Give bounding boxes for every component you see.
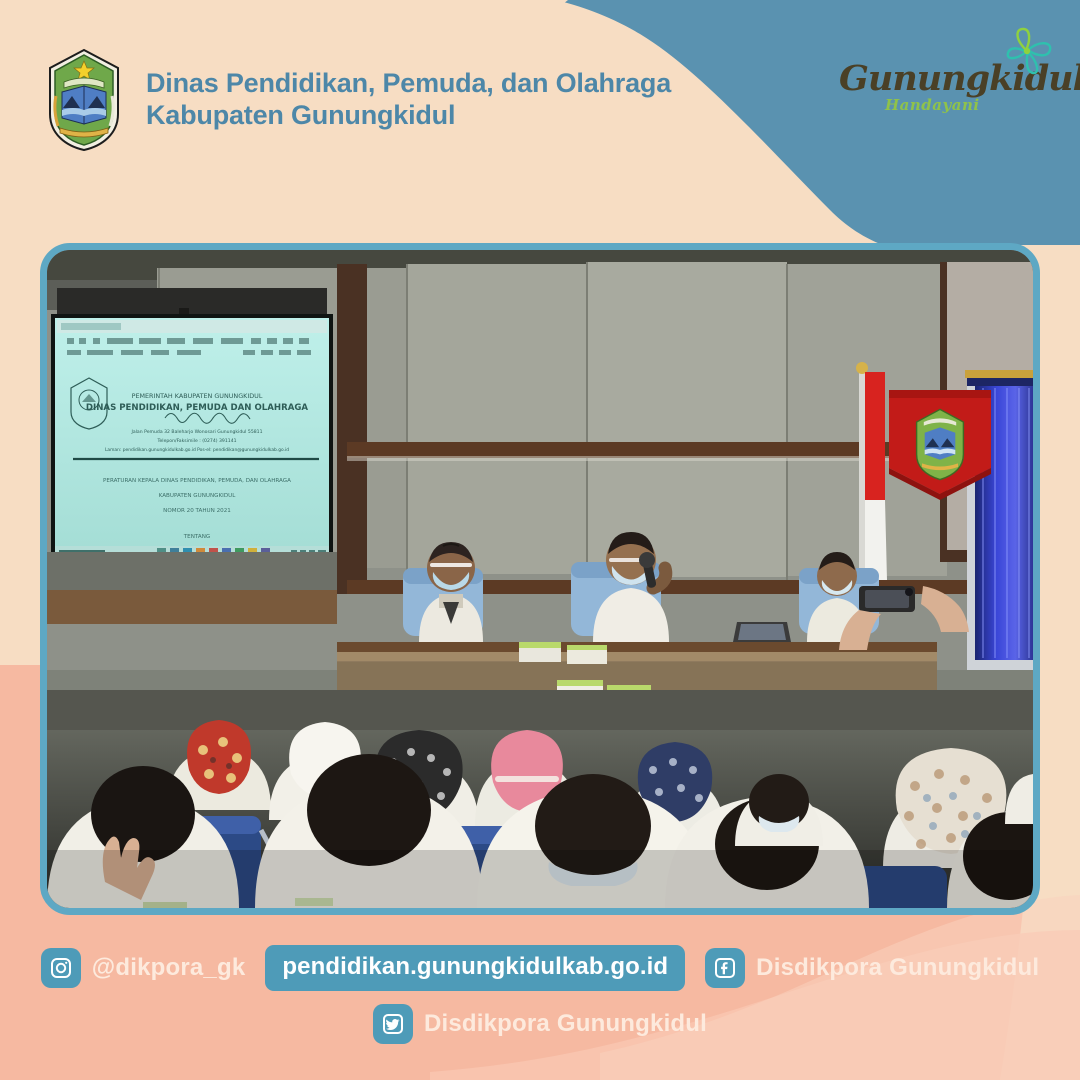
dragonfly-ornament-icon (996, 20, 1060, 82)
twitter-link[interactable]: Disdikpora Gunungkidul (373, 1004, 707, 1044)
svg-text:PEMERINTAH KABUPATEN GUNUNGKID: PEMERINTAH KABUPATEN GUNUNGKIDUL (132, 392, 263, 400)
brand-tagline: Handayani (885, 96, 980, 114)
gunungkidul-brand-logo: Gunungkidul Handayani (839, 24, 1054, 134)
svg-text:Telepon/Faksimile : (0274) 391: Telepon/Faksimile : (0274) 391141 (156, 438, 236, 444)
facebook-icon[interactable] (705, 948, 745, 988)
facebook-link[interactable]: Disdikpora Gunungkidul (705, 948, 1039, 988)
svg-text:DINAS PENDIDIKAN, PEMUDA DAN O: DINAS PENDIDIKAN, PEMUDA DAN OLAHRAGA (86, 403, 309, 413)
facebook-page-name: Disdikpora Gunungkidul (756, 954, 1039, 982)
event-photo: PEMERINTAH KABUPATEN GUNUNGKIDUL DINAS P… (40, 243, 1040, 915)
instagram-handle: @dikpora_gk (92, 954, 246, 982)
instagram-link[interactable]: @dikpora_gk (41, 948, 246, 988)
svg-text:Laman: pendidikan.gunungkidulk: Laman: pendidikan.gunungkidulkab.go.id P… (105, 447, 289, 453)
instagram-icon[interactable] (41, 948, 81, 988)
gunungkidul-regency-emblem-icon (42, 48, 126, 152)
website-url-pill[interactable]: pendidikan.gunungkidulkab.go.id (265, 945, 685, 991)
twitter-icon[interactable] (373, 1004, 413, 1044)
twitter-handle: Disdikpora Gunungkidul (424, 1010, 707, 1038)
svg-text:TENTANG: TENTANG (183, 534, 210, 540)
svg-text:PERATURAN KEPALA DINAS PENDIDI: PERATURAN KEPALA DINAS PENDIDIKAN, PEMUD… (103, 478, 291, 484)
svg-text:Jalan Pemuda 32 Baleharjo Wono: Jalan Pemuda 32 Baleharjo Wonosari Gunun… (130, 429, 262, 435)
footer-social-links: @dikpora_gk pendidikan.gunungkidulkab.go… (0, 945, 1080, 1044)
page-title-line2: Kabupaten Gunungkidul (146, 100, 671, 132)
svg-text:KABUPATEN GUNUNGKIDUL: KABUPATEN GUNUNGKIDUL (159, 493, 237, 499)
header: Dinas Pendidikan, Pemuda, dan Olahraga K… (42, 48, 671, 152)
svg-text:NOMOR 20 TAHUN 2021: NOMOR 20 TAHUN 2021 (163, 508, 231, 514)
page-title-line1: Dinas Pendidikan, Pemuda, dan Olahraga (146, 68, 671, 100)
